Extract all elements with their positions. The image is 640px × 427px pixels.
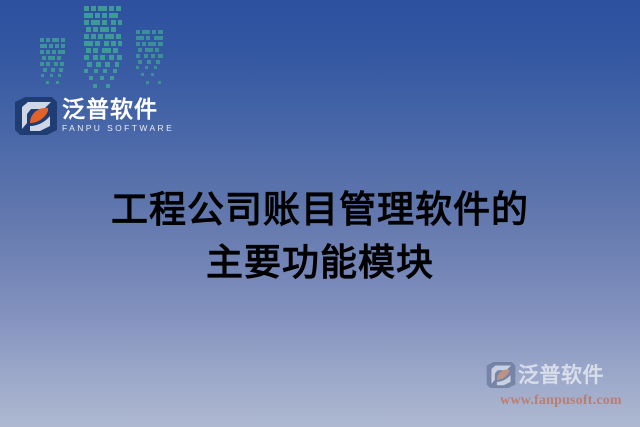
- title-line-2: 主要功能模块: [0, 236, 640, 289]
- brand-name-cn: 泛普软件: [62, 98, 174, 123]
- pixel-city-skyline-icon: [38, 0, 178, 92]
- promo-banner: 泛普软件 FANPU SOFTWARE 工程公司账目管理软件的 主要功能模块 泛…: [0, 0, 640, 427]
- brand-wordmark: 泛普软件 FANPU SOFTWARE: [62, 98, 174, 134]
- fanpu-hexagon-mark-icon: [14, 96, 58, 136]
- watermark-logo-row: 泛普软件: [486, 359, 636, 391]
- fanpu-hexagon-mark-icon: [486, 361, 516, 389]
- watermark-brand-name: 泛普软件: [518, 363, 604, 387]
- title-line-1: 工程公司账目管理软件的: [0, 183, 640, 236]
- watermark: 泛普软件 www.fanpusoft.com: [486, 359, 636, 413]
- brand-logo: 泛普软件 FANPU SOFTWARE: [14, 94, 174, 138]
- brand-name-en: FANPU SOFTWARE: [62, 123, 174, 134]
- watermark-url: www.fanpusoft.com: [486, 392, 636, 409]
- page-title: 工程公司账目管理软件的 主要功能模块: [0, 183, 640, 289]
